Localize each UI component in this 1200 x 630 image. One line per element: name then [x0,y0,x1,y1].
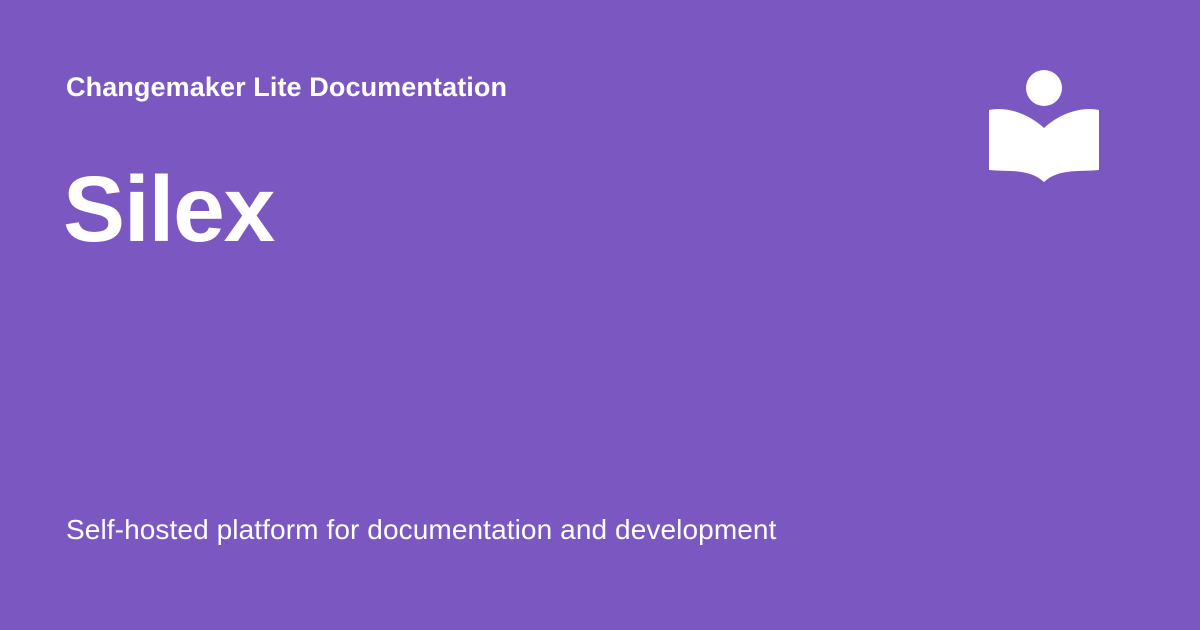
page-title: Silex [63,157,274,261]
reader-head-icon [1026,70,1062,106]
page-subtitle: Self-hosted platform for documentation a… [66,512,777,548]
book-right-page-icon [1044,109,1099,182]
documentation-eyebrow: Changemaker Lite Documentation [66,70,507,104]
book-left-page-icon [989,109,1044,182]
og-card: Changemaker Lite Documentation Silex Sel… [0,0,1200,630]
open-book-reader-icon [985,62,1103,188]
